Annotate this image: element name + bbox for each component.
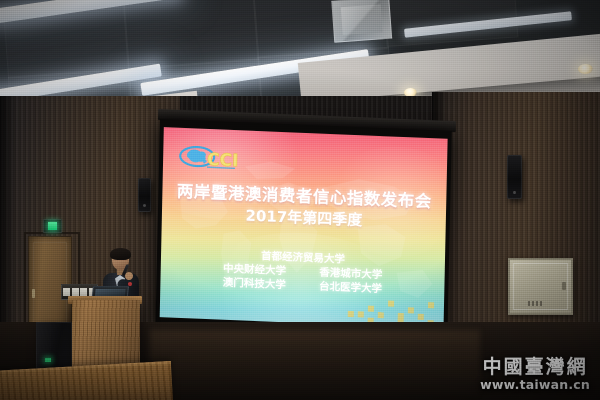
org-name-5: 台北医学大学 [319, 280, 382, 297]
downlight-1 [578, 64, 593, 74]
slide-content: CCI 两岸暨港澳消费者信心指数发布会 2017年第四季度 首都经济贸易大学 中… [160, 127, 448, 329]
door-handle-icon [32, 289, 35, 298]
org-name-4: 澳门科技大学 [223, 276, 286, 293]
air-vent-icon [331, 0, 392, 43]
wall-speaker-left [138, 178, 151, 212]
emergency-exit-sign [43, 219, 62, 233]
cci-logo: CCI [177, 144, 252, 173]
wall-access-panel [508, 258, 573, 315]
floor-speaker-monitor [36, 322, 72, 372]
wall-speaker-right [507, 155, 522, 199]
conference-hall-photo: CCI 两岸暨港澳消费者信心指数发布会 2017年第四季度 首都经济贸易大学 中… [0, 0, 600, 400]
projection-screen: CCI 两岸暨港澳消费者信心指数发布会 2017年第四季度 首都经济贸易大学 中… [156, 119, 452, 336]
presenter-hair [110, 248, 131, 260]
